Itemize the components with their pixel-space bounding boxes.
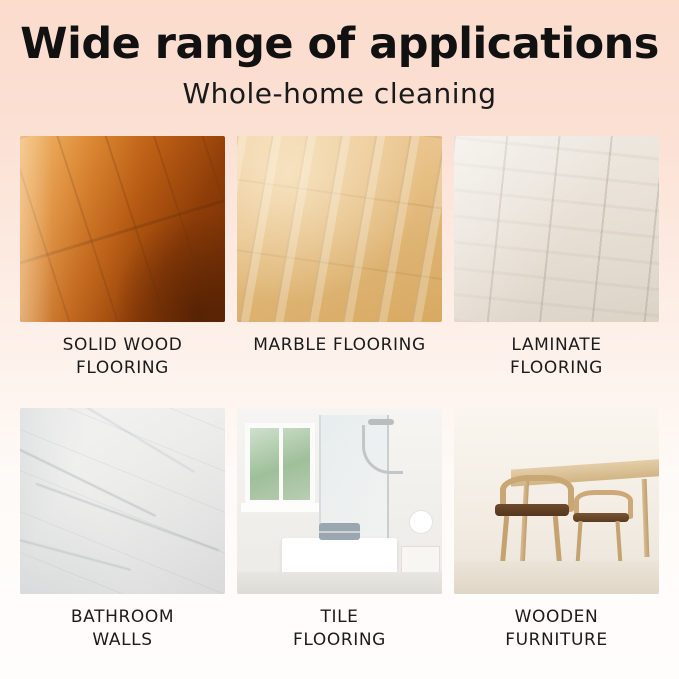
- caption-line-1: SOLID WOOD: [63, 335, 183, 355]
- promo-banner: Wide range of applications Whole-home cl…: [0, 0, 679, 679]
- tile-flooring-photo: [237, 408, 442, 594]
- page-subtitle: Whole-home cleaning: [0, 77, 679, 110]
- application-cell-solid-wood-flooring: SOLID WOOD FLOORING: [20, 136, 225, 380]
- tile-floor: [237, 572, 442, 594]
- wooden-furniture-photo: [454, 408, 659, 594]
- stool: [401, 546, 440, 574]
- application-cell-marble-flooring: MARBLE FLOORING: [237, 136, 442, 380]
- applications-grid-row-2: BATHROOM WALLS TILE FLOORING: [20, 408, 659, 652]
- caption-line-1: BATHROOM: [71, 607, 174, 627]
- caption-line-2: FLOORING: [293, 630, 386, 650]
- caption-line-2: FURNITURE: [505, 630, 608, 650]
- wooden-chair: [495, 475, 585, 572]
- application-cell-laminate-flooring: LAMINATE FLOORING: [454, 136, 659, 380]
- caption-laminate-flooring: LAMINATE FLOORING: [510, 334, 603, 380]
- caption-line-2: FLOORING: [76, 358, 169, 378]
- caption-line-1: WOODEN: [515, 607, 599, 627]
- chair-seat: [495, 504, 569, 516]
- solid-wood-flooring-photo: [20, 136, 225, 322]
- caption-tile-flooring: TILE FLOORING: [293, 606, 386, 652]
- caption-line-2: WALLS: [92, 630, 152, 650]
- caption-line-1: MARBLE FLOORING: [253, 335, 426, 355]
- caption-line-2: FLOORING: [510, 358, 603, 378]
- application-cell-bathroom-walls: BATHROOM WALLS: [20, 408, 225, 652]
- applications-grid-row-1: SOLID WOOD FLOORING MARBLE FLOORING LAMI…: [20, 136, 659, 380]
- marble-vein: [20, 443, 156, 516]
- page-title: Wide range of applications: [0, 0, 679, 67]
- application-cell-wooden-furniture: WOODEN FURNITURE: [454, 408, 659, 652]
- gloss-highlight: [237, 136, 442, 322]
- shower-head: [368, 419, 394, 425]
- caption-bathroom-walls: BATHROOM WALLS: [71, 606, 174, 652]
- folded-towel: [319, 523, 360, 540]
- marble-flooring-photo: [237, 136, 442, 322]
- marble-vein: [71, 408, 195, 472]
- chair-leg: [552, 515, 561, 566]
- bathroom-walls-photo: [20, 408, 225, 594]
- chair-leg: [616, 521, 623, 565]
- application-cell-tile-flooring: TILE FLOORING: [237, 408, 442, 652]
- wooden-chair-secondary: [573, 490, 643, 572]
- caption-line-1: LAMINATE: [511, 335, 601, 355]
- caption-marble-flooring: MARBLE FLOORING: [253, 334, 426, 357]
- chair-leg: [500, 515, 509, 566]
- room-floor: [454, 561, 659, 594]
- shadow-overlay: [112, 210, 225, 322]
- window: [245, 423, 315, 505]
- caption-solid-wood-flooring: SOLID WOOD FLOORING: [63, 334, 183, 380]
- gloss-highlight: [454, 136, 659, 322]
- window-sill: [241, 503, 319, 512]
- caption-line-1: TILE: [320, 607, 358, 627]
- chair-leg: [576, 521, 583, 565]
- caption-wooden-furniture: WOODEN FURNITURE: [505, 606, 608, 652]
- laminate-flooring-photo: [454, 136, 659, 322]
- marble-vein: [20, 537, 131, 570]
- marble-vein: [36, 483, 220, 551]
